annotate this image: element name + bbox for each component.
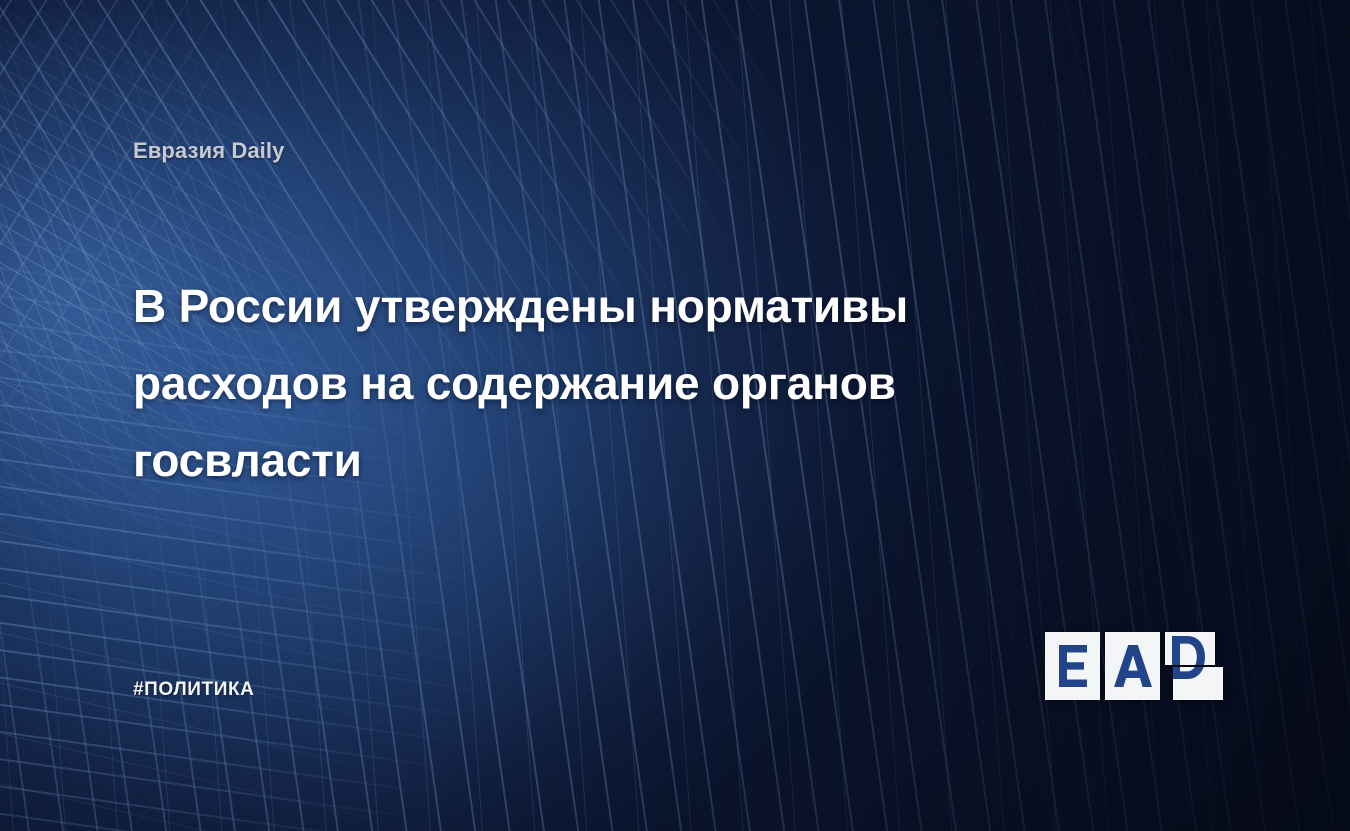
card-content: Евразия Daily В России утверждены нормат… [0, 0, 1350, 831]
letter-e-icon [1056, 645, 1090, 687]
article-headline: В России утверждены нормативы расходов н… [133, 268, 1073, 499]
ead-logo-d-bottom-half [1173, 667, 1223, 700]
letter-d-icon [1173, 667, 1205, 679]
ead-logo-tile-e [1045, 632, 1100, 700]
letter-a-icon [1114, 645, 1152, 687]
ead-logo [1045, 632, 1223, 700]
category-hashtag: #ПОЛИТИКА [133, 679, 255, 701]
ead-logo-tile-a [1105, 632, 1160, 700]
ead-logo-tile-d [1165, 632, 1223, 700]
brand-name: Евразия Daily [133, 138, 284, 164]
article-social-card: Евразия Daily В России утверждены нормат… [0, 0, 1350, 831]
